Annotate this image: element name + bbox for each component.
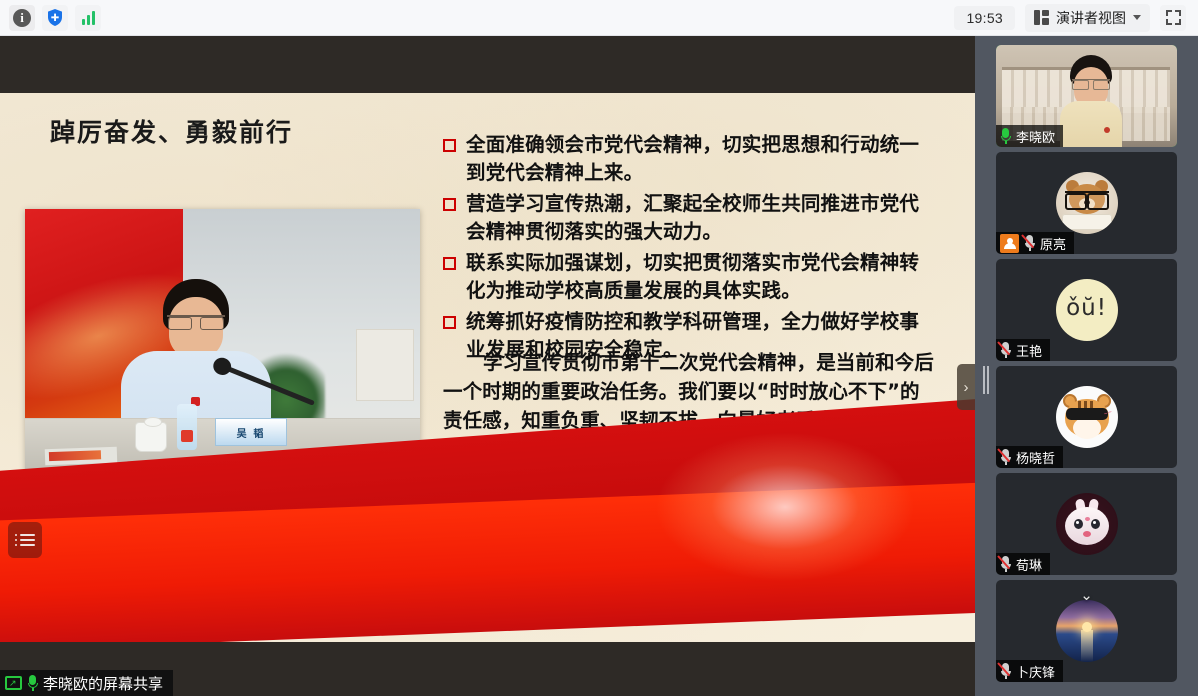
- network-quality-icon: [82, 11, 95, 25]
- participant-name: 卜庆锋: [1016, 662, 1055, 681]
- bullet-item: 联系实际加强谋划，切实把贯彻落实市党代会精神转化为推动学校高质量发展的具体实践。: [443, 249, 933, 305]
- photo-shelf: [356, 329, 414, 401]
- bullet-text: 全面准确领会市党代会精神，切实把思想和行动统一到党代会精神上来。: [466, 131, 933, 187]
- info-icon: i: [13, 9, 31, 27]
- participant-name-bar: 杨晓哲: [996, 446, 1063, 468]
- mic-muted-icon: [1000, 556, 1011, 572]
- top-toolbar: i 19:53 演讲者视图: [0, 0, 1198, 36]
- participant-name-bar: 李晓欧: [996, 125, 1063, 147]
- bullet-text: 营造学习宣传热潮，汇聚起全校师生共同推进市党代会精神贯彻落实的强大动力。: [466, 190, 933, 246]
- slide-list-menu-button[interactable]: [8, 522, 42, 558]
- participant-tile-6[interactable]: ⌄ 卜庆锋: [996, 580, 1177, 682]
- zoom-meeting-window: i 19:53 演讲者视图: [0, 0, 1198, 696]
- participant-tile-2[interactable]: 原亮: [996, 152, 1177, 254]
- participant-name: 杨晓哲: [1016, 448, 1055, 467]
- photo-nameplate: 吴 韬: [215, 418, 287, 446]
- participant-filmstrip: 李晓欧 原亮: [975, 36, 1198, 696]
- photo-nameplate-text: 吴 韬: [237, 425, 266, 440]
- shared-screen-stage[interactable]: 踔厉奋发、勇毅前行: [0, 36, 975, 696]
- toolbar-left-group: i: [0, 5, 101, 31]
- bullet-item: 全面准确领会市党代会精神，切实把思想和行动统一到党代会精神上来。: [443, 131, 933, 187]
- person-badge-icon: [1000, 234, 1019, 253]
- participant-name-bar: 荀琳: [996, 553, 1050, 575]
- mic-muted-icon: [1000, 342, 1011, 358]
- participant-tile-1[interactable]: 李晓欧: [996, 45, 1177, 147]
- square-bullet-icon: [443, 257, 456, 270]
- square-bullet-icon: [443, 198, 456, 211]
- cream-face-avatar: ǒŭ!: [1056, 279, 1118, 341]
- participant-tile-5[interactable]: 荀琳: [996, 473, 1177, 575]
- bullet-text: 联系实际加强谋划，切实把贯彻落实市党代会精神转化为推动学校高质量发展的具体实践。: [466, 249, 933, 305]
- participant-name-bar: 卜庆锋: [996, 660, 1063, 682]
- participant-name: 原亮: [1040, 234, 1066, 253]
- shield-plus-icon: [46, 8, 64, 27]
- mic-on-icon: [27, 675, 38, 691]
- mic-muted-icon: [1024, 235, 1035, 251]
- collapse-panel-button[interactable]: ›: [957, 364, 975, 410]
- chevron-down-icon[interactable]: ⌄: [1080, 586, 1093, 604]
- slide-photo: 吴 韬: [25, 209, 420, 474]
- participant-video-person: [1060, 55, 1122, 147]
- participant-name-bar: 王艳: [996, 339, 1050, 361]
- participant-tile-4[interactable]: ~~ 杨晓哲: [996, 366, 1177, 468]
- square-bullet-icon: [443, 139, 456, 152]
- view-mode-label: 演讲者视图: [1056, 8, 1126, 28]
- participant-tiles: 李晓欧 原亮: [996, 45, 1177, 687]
- slide-paragraph: 学习宣传贯彻市第十二次党代会精神，是当前和今后一个时期的重要政治任务。我们要以“…: [443, 348, 937, 551]
- tiger-sunglasses-avatar: ~~: [1056, 386, 1118, 448]
- screen-share-label: ↗ 李晓欧的屏幕共享: [0, 670, 173, 696]
- chevron-down-icon: [1133, 15, 1141, 20]
- participant-name: 荀琳: [1016, 555, 1042, 574]
- mic-muted-icon: [1000, 449, 1011, 465]
- list-menu-icon: [15, 531, 35, 549]
- mic-on-icon: [1000, 128, 1011, 144]
- bullet-item: 营造学习宣传热潮，汇聚起全校师生共同推进市党代会精神贯彻落实的强大动力。: [443, 190, 933, 246]
- security-shield-button[interactable]: [42, 5, 68, 31]
- sunset-ocean-avatar: [1056, 600, 1118, 662]
- view-mode-selector[interactable]: 演讲者视图: [1025, 4, 1150, 32]
- participant-name: 王艳: [1016, 341, 1042, 360]
- screen-share-text: 李晓欧的屏幕共享: [43, 673, 163, 694]
- square-bullet-icon: [443, 316, 456, 329]
- participant-name: 李晓欧: [1016, 127, 1055, 146]
- clock: 19:53: [954, 6, 1015, 30]
- toolbar-right-group: 19:53 演讲者视图: [954, 4, 1198, 32]
- avatar-text: ǒŭ!: [1056, 295, 1118, 321]
- mic-muted-icon: [1000, 663, 1011, 679]
- info-button[interactable]: i: [9, 5, 35, 31]
- screen-share-icon: ↗: [5, 676, 22, 690]
- slide-title: 踔厉奋发、勇毅前行: [50, 113, 293, 149]
- network-quality-button[interactable]: [75, 5, 101, 31]
- layout-icon: [1034, 10, 1049, 25]
- fullscreen-button[interactable]: [1160, 5, 1186, 31]
- participant-name-bar: 原亮: [996, 232, 1074, 254]
- rabbit-avatar: [1056, 493, 1118, 555]
- slide-bullet-list: 全面准确领会市党代会精神，切实把思想和行动统一到党代会精神上来。 营造学习宣传热…: [443, 131, 933, 367]
- participant-tile-3[interactable]: ǒŭ! 王艳: [996, 259, 1177, 361]
- bear-glasses-avatar: [1056, 172, 1118, 234]
- drag-handle-icon[interactable]: [983, 366, 989, 394]
- presentation-slide: 踔厉奋发、勇毅前行: [0, 93, 975, 642]
- fullscreen-icon: [1166, 10, 1181, 25]
